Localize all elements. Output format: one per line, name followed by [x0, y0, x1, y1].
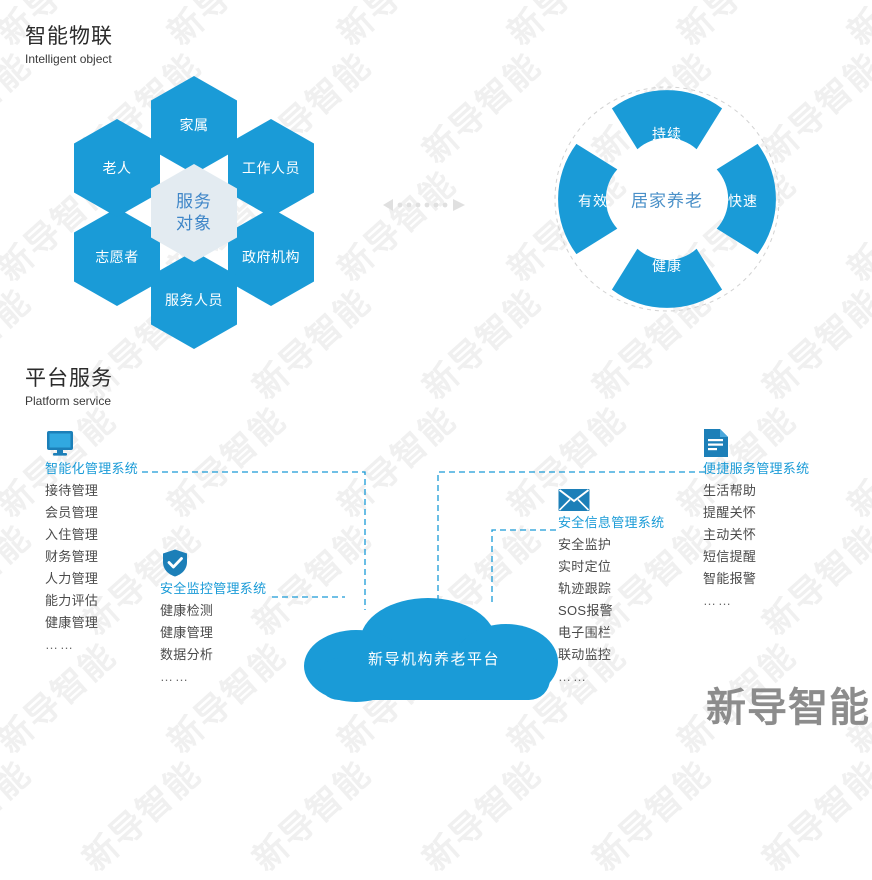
hex-service-personnel[interactable]: 服务人员 — [151, 251, 237, 349]
monitor-icon — [45, 428, 75, 458]
hex-center-service-target: 服务 对象 — [151, 164, 237, 262]
service-item[interactable]: 实时定位 — [558, 556, 664, 578]
hex-center-line2: 对象 — [176, 213, 212, 235]
section-title-cn: 平台服务 — [25, 366, 113, 392]
hex-label: 家属 — [180, 116, 209, 134]
watermark-text: 新导智能 — [410, 748, 550, 880]
section-title-cn: 智能物联 — [25, 24, 113, 50]
hex-label: 志愿者 — [95, 248, 139, 266]
watermark-text: 新导智能 — [665, 0, 805, 54]
service-item[interactable]: 健康管理 — [160, 622, 266, 644]
service-item[interactable]: 安全监护 — [558, 534, 664, 556]
watermark-text: 新导智能 — [0, 512, 40, 645]
service-item[interactable]: 电子围栏 — [558, 622, 664, 644]
service-title[interactable]: 智能化管理系统 — [45, 458, 138, 480]
donut-center-label: 居家养老 — [552, 187, 782, 212]
donut-chart-home-care: 持续 快速 健康 有效 居家养老 — [552, 84, 782, 314]
watermark-text: 新导智能 — [835, 394, 872, 527]
section-title-en: Intelligent object — [25, 51, 113, 68]
service-item[interactable]: 短信提醒 — [703, 546, 809, 568]
service-title[interactable]: 安全监控管理系统 — [160, 578, 266, 600]
service-item[interactable]: 入住管理 — [45, 524, 138, 546]
cloud-label: 新导机构养老平台 — [300, 648, 568, 669]
service-item[interactable]: 健康管理 — [45, 612, 138, 634]
section-title-en: Platform service — [25, 393, 113, 410]
service-convenient-service-management-system: 便捷服务管理系统 生活帮助 提醒关怀 主动关怀 短信提醒 智能报警 …… — [703, 428, 809, 612]
watermark-text: 新导智能 — [325, 158, 465, 291]
service-item[interactable]: 生活帮助 — [703, 480, 809, 502]
donut-label-bottom: 健康 — [552, 256, 782, 276]
hex-staff[interactable]: 工作人员 — [228, 119, 314, 217]
shield-check-icon — [160, 548, 190, 578]
watermark-text: 新导智能 — [240, 748, 380, 880]
hex-center-line1: 服务 — [176, 191, 212, 213]
service-item[interactable]: 接待管理 — [45, 480, 138, 502]
service-item-ellipsis: …… — [160, 666, 266, 688]
service-item[interactable]: 能力评估 — [45, 590, 138, 612]
hex-government[interactable]: 政府机构 — [228, 208, 314, 306]
hex-label: 政府机构 — [242, 248, 300, 266]
service-title[interactable]: 便捷服务管理系统 — [703, 458, 809, 480]
watermark-text: 新导智能 — [495, 0, 635, 54]
hexagon-cluster: 家属 工作人员 政府机构 服务人员 志愿者 老人 服务 对象 — [68, 76, 328, 344]
service-title[interactable]: 安全信息管理系统 — [558, 512, 664, 534]
hex-elderly[interactable]: 老人 — [74, 119, 160, 217]
service-security-information-management-system: 安全信息管理系统 安全监护 实时定位 轨迹跟踪 SOS报警 电子围栏 联动监控 … — [558, 488, 664, 688]
service-item[interactable]: SOS报警 — [558, 600, 664, 622]
watermark-text: 新导智能 — [0, 748, 40, 880]
hex-volunteer[interactable]: 志愿者 — [74, 208, 160, 306]
service-security-monitoring-management-system: 安全监控管理系统 健康检测 健康管理 数据分析 …… — [160, 548, 266, 688]
service-intelligent-management-system: 智能化管理系统 接待管理 会员管理 入住管理 财务管理 人力管理 能力评估 健康… — [45, 428, 138, 656]
watermark-text: 新导智能 — [835, 0, 872, 54]
cloud-platform-shape: 新导机构养老平台 — [300, 596, 568, 714]
watermark-text: 新导智能 — [155, 0, 295, 54]
watermark-text: 新导智能 — [70, 748, 210, 880]
hex-label: 工作人员 — [242, 159, 300, 177]
service-item[interactable]: 提醒关怀 — [703, 502, 809, 524]
service-item[interactable]: 财务管理 — [45, 546, 138, 568]
watermark-text: 新导智能 — [750, 748, 872, 880]
service-item[interactable]: 主动关怀 — [703, 524, 809, 546]
watermark-text: 新导智能 — [325, 394, 465, 527]
section-heading-intelligent-object: 智能物联 Intelligent object — [25, 24, 113, 68]
service-item-ellipsis: …… — [45, 634, 138, 656]
hex-label: 老人 — [103, 159, 132, 177]
watermark-text: 新导智能 — [155, 394, 295, 527]
service-item[interactable]: 联动监控 — [558, 644, 664, 666]
hex-family[interactable]: 家属 — [151, 76, 237, 174]
service-item[interactable]: 会员管理 — [45, 502, 138, 524]
service-item[interactable]: 健康检测 — [160, 600, 266, 622]
document-icon — [703, 428, 729, 458]
service-item[interactable]: 智能报警 — [703, 568, 809, 590]
hex-label: 服务人员 — [165, 291, 223, 309]
connector-security-info-to-cloud — [492, 530, 556, 604]
watermark-text: 新导智能 — [325, 0, 465, 54]
watermark-text: 新导智能 — [410, 40, 550, 173]
service-item-ellipsis: …… — [703, 590, 809, 612]
bidirectional-dotted-arrow-icon — [383, 197, 465, 213]
watermark-text: 新导智能 — [580, 748, 720, 880]
watermark-text: 新导智能 — [835, 158, 872, 291]
service-item[interactable]: 数据分析 — [160, 644, 266, 666]
watermark-text: 新导智能 — [410, 276, 550, 409]
brand-logo: 新导智能 — [706, 687, 870, 729]
donut-label-top: 持续 — [552, 124, 782, 144]
envelope-icon — [558, 488, 588, 512]
service-item-ellipsis: …… — [558, 666, 664, 688]
service-item[interactable]: 人力管理 — [45, 568, 138, 590]
service-item[interactable]: 轨迹跟踪 — [558, 578, 664, 600]
section-heading-platform-service: 平台服务 Platform service — [25, 366, 113, 410]
